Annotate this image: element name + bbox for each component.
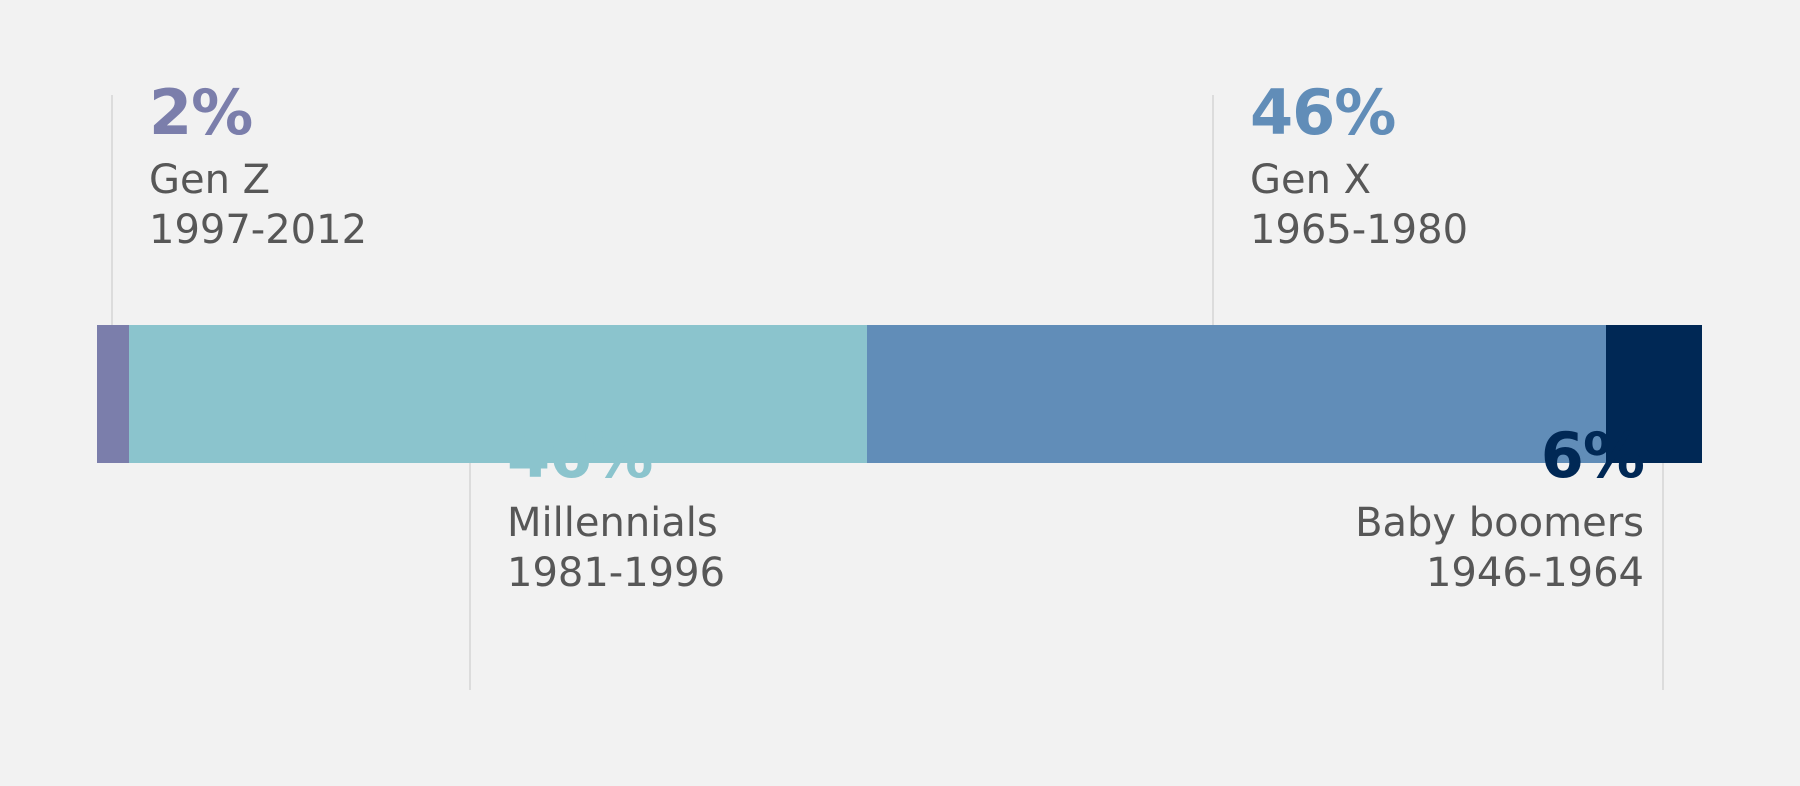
callout-baby-boomers-years: 1946-1964: [1355, 553, 1644, 593]
callout-genx-years: 1965-1980: [1250, 210, 1468, 250]
callout-genz-percent: 2%: [149, 82, 367, 144]
connector-rule-boomers: [1662, 463, 1664, 690]
callout-genx-name: Gen X: [1250, 160, 1468, 200]
callout-genx: 46% Gen X 1965-1980: [1250, 82, 1468, 260]
callout-genz-years: 1997-2012: [149, 210, 367, 250]
callout-genz: 2% Gen Z 1997-2012: [149, 82, 367, 260]
callout-baby-boomers-percent: 6%: [1355, 425, 1644, 487]
callout-baby-boomers: 6% Baby boomers 1946-1964: [1355, 425, 1644, 603]
bar-segment-genz[interactable]: [97, 325, 129, 463]
connector-rule-millennials: [469, 463, 471, 690]
callout-baby-boomers-name: Baby boomers: [1355, 503, 1644, 543]
callout-millennials-years: 1981-1996: [507, 553, 725, 593]
callout-millennials: 46% Millennials 1981-1996: [507, 425, 725, 603]
connector-rule-genx: [1212, 95, 1214, 325]
bar-segment-millennials[interactable]: [129, 325, 867, 463]
callout-millennials-name: Millennials: [507, 503, 725, 543]
callout-genx-percent: 46%: [1250, 82, 1468, 144]
generation-breakdown-chart: 2% Gen Z 1997-2012 46% Gen X 1965-1980 4…: [0, 0, 1800, 786]
callout-genz-name: Gen Z: [149, 160, 367, 200]
connector-rule-genz: [111, 95, 113, 325]
callout-millennials-percent: 46%: [507, 425, 725, 487]
